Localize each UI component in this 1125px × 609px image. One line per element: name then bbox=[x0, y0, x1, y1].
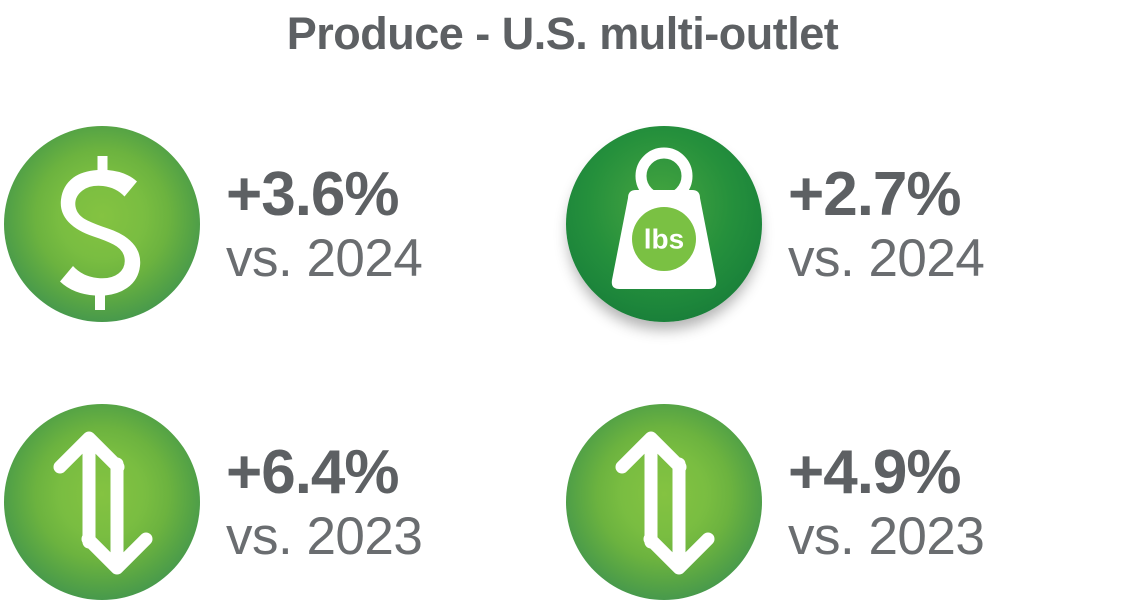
infographic-root: Produce - U.S. multi-outlet +3.6% vs. 20… bbox=[0, 0, 1125, 609]
up-down-arrows-icon bbox=[4, 404, 200, 600]
metric-text-block: +6.4% vs. 2023 bbox=[226, 442, 422, 563]
metric-card-dollar-2024: +3.6% vs. 2024 bbox=[4, 126, 422, 322]
lbs-badge-label: lbs bbox=[644, 224, 684, 255]
metric-card-weight-2024: lbs +2.7% vs. 2024 bbox=[566, 126, 984, 322]
dollar-sign-icon bbox=[4, 126, 200, 322]
metric-text-block: +4.9% vs. 2023 bbox=[788, 442, 984, 563]
metric-value: +4.9% bbox=[788, 442, 984, 504]
metric-text-block: +2.7% vs. 2024 bbox=[788, 164, 984, 285]
metric-caption: vs. 2024 bbox=[226, 232, 422, 285]
metric-card-arrows-2023-left: +6.4% vs. 2023 bbox=[4, 404, 422, 600]
up-down-arrows-icon bbox=[566, 404, 762, 600]
metric-value: +6.4% bbox=[226, 442, 422, 504]
metric-value: +3.6% bbox=[226, 164, 422, 226]
metric-caption: vs. 2023 bbox=[788, 510, 984, 563]
metric-card-arrows-2023-right: +4.9% vs. 2023 bbox=[566, 404, 984, 600]
metric-caption: vs. 2024 bbox=[788, 232, 984, 285]
weight-lbs-icon: lbs bbox=[566, 126, 762, 322]
metric-caption: vs. 2023 bbox=[226, 510, 422, 563]
page-title: Produce - U.S. multi-outlet bbox=[0, 8, 1125, 60]
metric-value: +2.7% bbox=[788, 164, 984, 226]
metric-text-block: +3.6% vs. 2024 bbox=[226, 164, 422, 285]
